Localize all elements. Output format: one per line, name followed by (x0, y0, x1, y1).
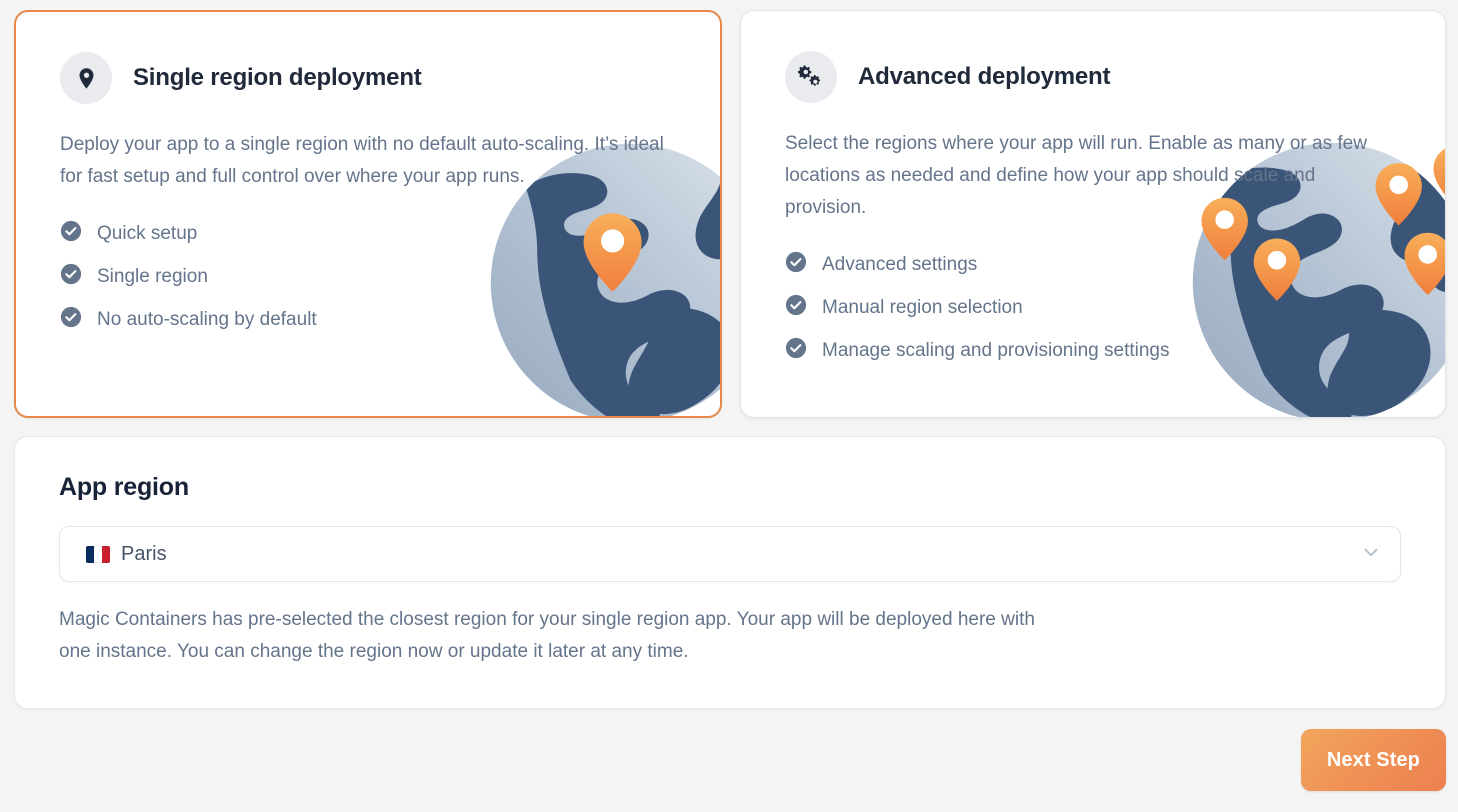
deployment-setup-page: Single region deployment Deploy your app… (0, 0, 1458, 812)
feature-item: No auto-scaling by default (60, 306, 676, 333)
feature-label: Advanced settings (822, 252, 977, 278)
check-circle-icon (785, 251, 807, 278)
deployment-option-advanced[interactable]: Advanced deployment Select the regions w… (740, 10, 1446, 418)
map-pin-marker (1434, 146, 1447, 208)
feature-label: No auto-scaling by default (97, 307, 317, 333)
card-title: Advanced deployment (858, 63, 1110, 91)
card-description: Deploy your app to a single region with … (60, 129, 676, 193)
check-circle-icon (60, 306, 82, 333)
app-region-select[interactable]: Paris (59, 526, 1401, 582)
map-pin-marker (1405, 233, 1447, 295)
feature-item: Single region (60, 263, 676, 290)
feature-label: Quick setup (97, 221, 197, 247)
feature-item: Quick setup (60, 220, 676, 247)
deployment-option-single-region[interactable]: Single region deployment Deploy your app… (14, 10, 722, 418)
feature-item: Manage scaling and provisioning settings (785, 337, 1401, 364)
feature-item: Manual region selection (785, 294, 1401, 321)
card-title: Single region deployment (133, 64, 422, 92)
feature-list: Quick setup Single region (60, 220, 676, 333)
feature-label: Single region (97, 264, 208, 290)
flag-france-icon (86, 546, 110, 563)
map-pin-icon (60, 52, 112, 104)
check-circle-icon (60, 220, 82, 247)
app-region-panel: App region Paris Magic Containers has pr… (14, 436, 1446, 709)
app-region-value-label: Paris (121, 543, 167, 566)
check-circle-icon (785, 294, 807, 321)
feature-list: Advanced settings Manual region selectio… (785, 251, 1401, 364)
next-step-button[interactable]: Next Step (1301, 729, 1446, 791)
deployment-options-row: Single region deployment Deploy your app… (14, 10, 1446, 418)
feature-item: Advanced settings (785, 251, 1401, 278)
card-header: Single region deployment (60, 52, 676, 104)
app-region-heading: App region (59, 473, 1401, 502)
app-region-hint: Magic Containers has pre-selected the cl… (59, 604, 1069, 668)
card-description: Select the regions where your app will r… (785, 128, 1401, 224)
app-region-selected-value: Paris (86, 543, 1360, 566)
chevron-down-icon[interactable] (1360, 541, 1382, 568)
feature-label: Manual region selection (822, 295, 1023, 321)
feature-label: Manage scaling and provisioning settings (822, 338, 1170, 364)
check-circle-icon (60, 263, 82, 290)
check-circle-icon (785, 337, 807, 364)
footer-actions: Next Step (14, 709, 1446, 791)
card-header: Advanced deployment (785, 51, 1401, 103)
gears-icon (785, 51, 837, 103)
